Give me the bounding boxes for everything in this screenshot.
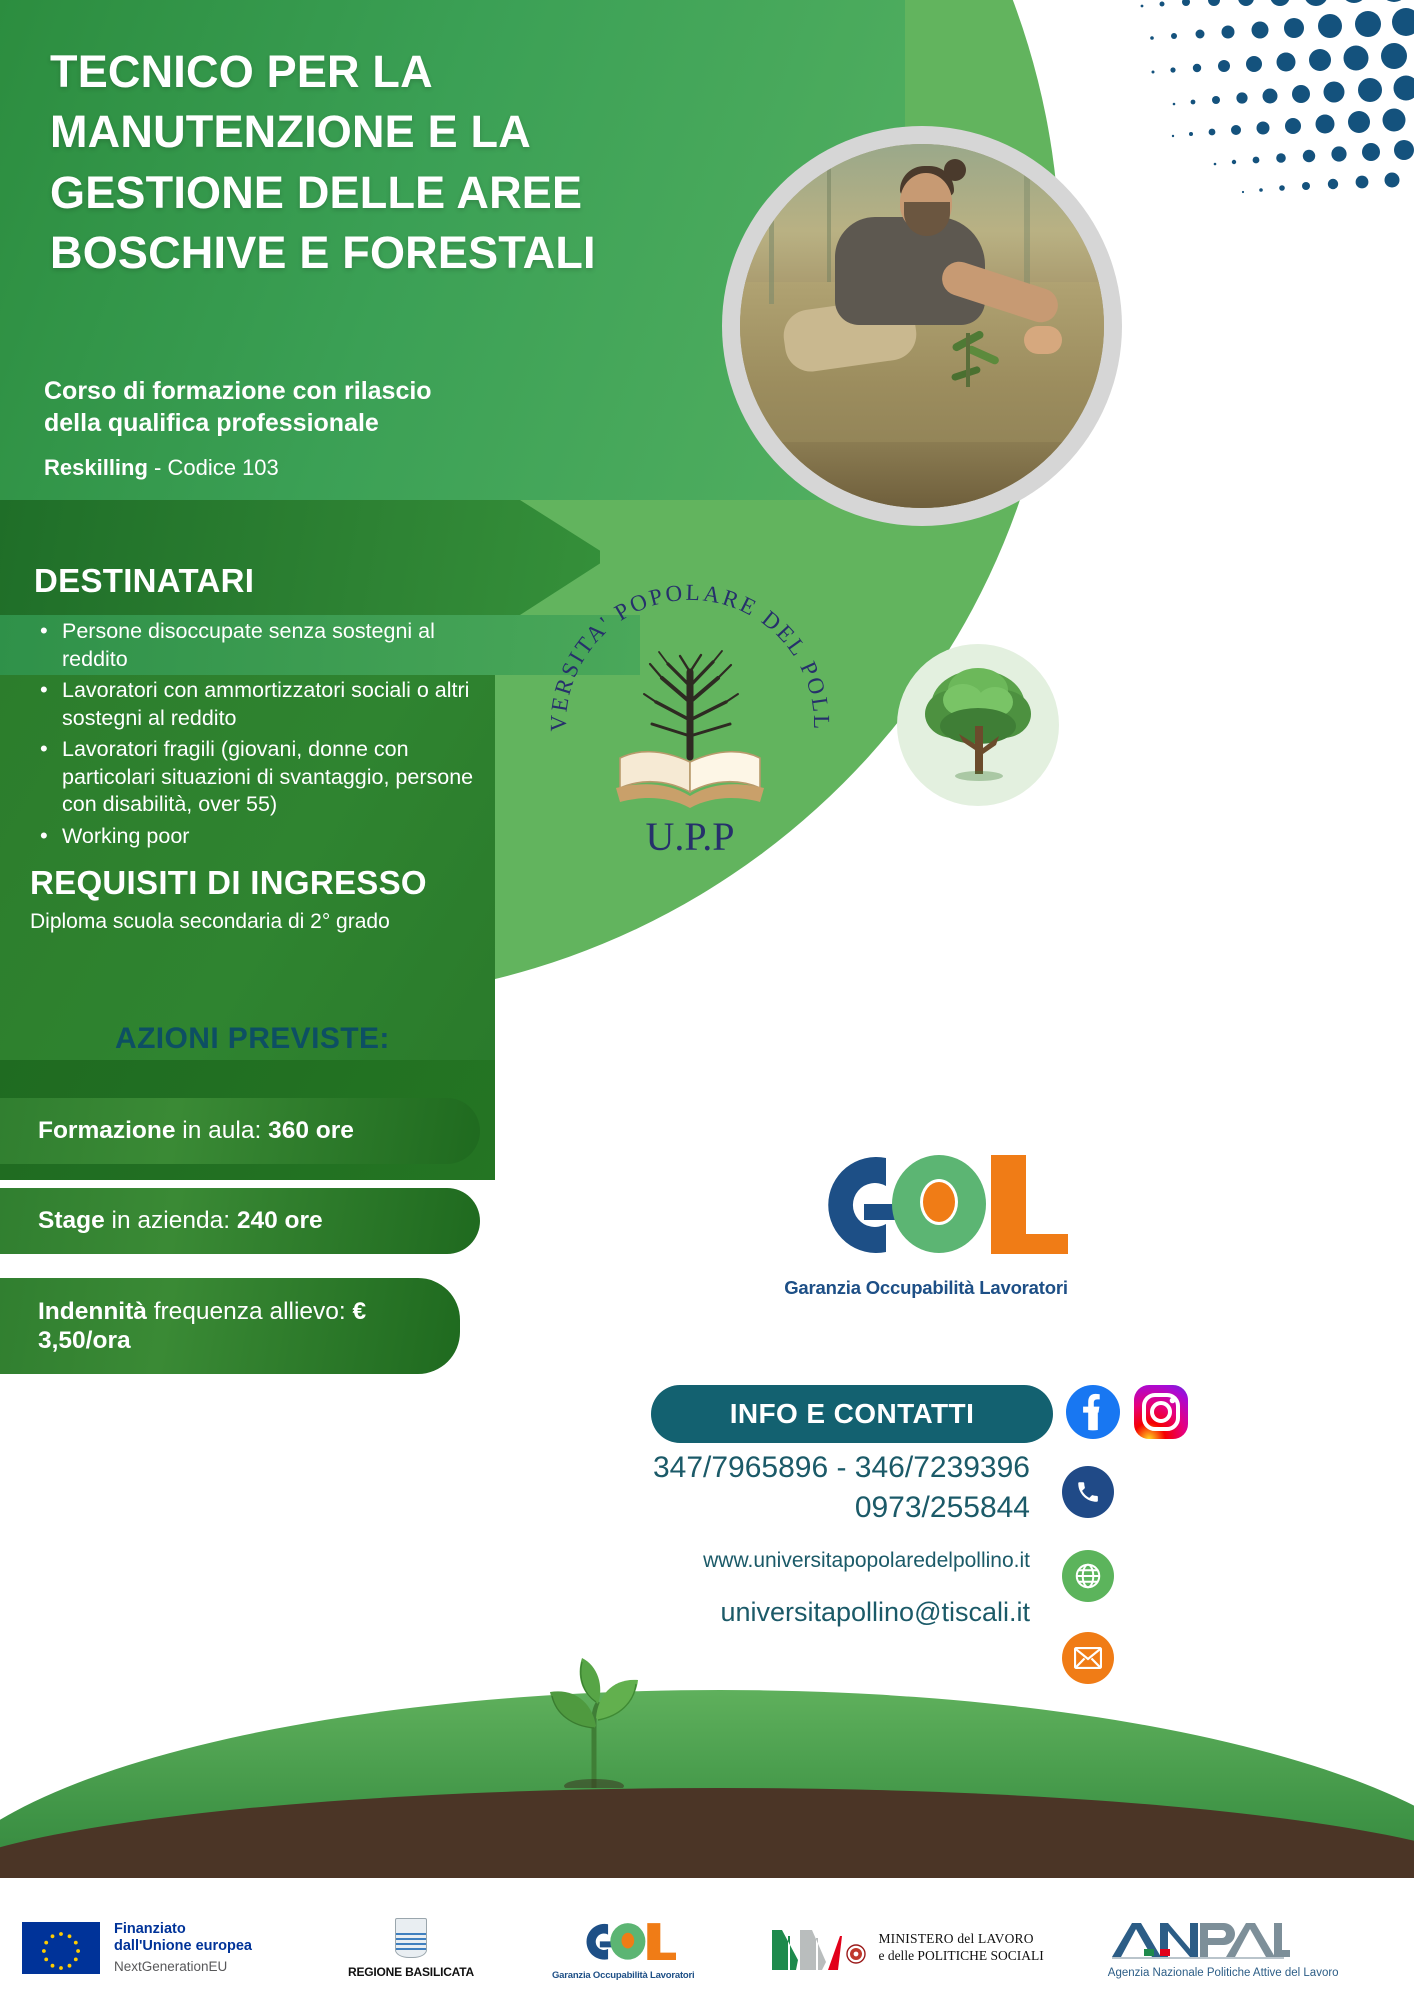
upp-logo: UNIVERSITA' POPOLARE DEL POLLINO U.P.P [540,552,840,862]
list-item: Persone disoccupate senza sostegni al re… [34,618,504,673]
poster-root: TECNICO PER LA MANUTENZIONE E LA GESTION… [0,0,1414,2000]
title-line-4: BOSCHIVE E FORESTALI [50,223,750,283]
info-contatti-bar: INFO E CONTATTI [651,1385,1053,1443]
azione-2-bold-1: Stage [38,1207,105,1234]
tree-illustration-circle [897,644,1059,806]
tree-icon [897,644,1059,806]
azione-2-mid: in azienda: [105,1207,237,1234]
anpal-caption: Agenzia Nazionale Politiche Attive del L… [1108,1967,1339,1979]
gol-mark-icon-small [567,1916,679,1966]
phone-line-2[interactable]: 0973/255844 [560,1488,1030,1528]
destinatari-heading: DESTINATARI [34,562,504,600]
requisiti-heading: REQUISITI DI INGRESSO [30,864,510,902]
phone-numbers: 347/7965896 - 346/7239396 0973/255844 [560,1448,1030,1527]
footer-gol-caption: Garanzia Occupabilità Lavoratori [552,1970,694,1981]
azione-3-mid: frequenza allievo: [147,1298,353,1325]
footer-logo-bar: Finanziato dall'Unione europea NextGener… [0,1896,1414,2000]
regione-basilicata-logo: REGIONE BASILICATA [348,1918,474,1979]
ministero-m-icon [766,1920,870,1976]
ribbon-reskilling-label: Reskilling [44,455,148,480]
course-ribbon-text: Corso di formazione con rilascio della q… [44,375,564,481]
info-contatti-label: INFO E CONTATTI [730,1398,975,1430]
ministero-lavoro-logo: MINISTERO del LAVORO e delle POLITICHE S… [766,1920,1043,1976]
title-line-3: GESTIONE DELLE AREE [50,163,750,223]
azioni-previste-heading: AZIONI PREVISTE: [115,1022,390,1056]
website-url[interactable]: www.universitapopolaredelpollino.it [560,1549,1030,1573]
anpal-mark-icon [1108,1917,1290,1965]
basilicata-shield-icon [395,1918,427,1958]
upp-acronym: U.P.P [646,814,735,859]
requisiti-section: REQUISITI DI INGRESSO Diploma scuola sec… [30,864,510,934]
list-item: Lavoratori fragili (giovani, donne con p… [34,736,504,819]
page-title: TECNICO PER LA MANUTENZIONE E LA GESTION… [50,42,750,283]
sprout-illustration [520,1628,670,1788]
title-line-2: MANUTENZIONE E LA [50,102,750,162]
eu-funding-logo: Finanziato dall'Unione europea NextGener… [22,1921,252,1975]
eu-line-2: dall'Unione europea [114,1938,252,1955]
phone-icon[interactable] [1062,1466,1114,1518]
eu-flag-icon [22,1922,100,1974]
anpal-logo: Agenzia Nazionale Politiche Attive del L… [1108,1917,1339,1979]
footer-gol-logo: Garanzia Occupabilità Lavoratori [552,1916,694,1981]
azione-stage-pill: Stage in azienda: 240 ore [0,1188,480,1254]
ribbon-line-2: della qualifica professionale [44,407,564,439]
email-icon[interactable] [1062,1632,1114,1684]
hero-photo-ring [722,126,1122,526]
azione-formazione-pill: Formazione in aula: 360 ore [0,1098,480,1164]
email-address[interactable]: universitapollino@tiscali.it [560,1597,1030,1628]
regione-caption: REGIONE BASILICATA [348,1965,474,1979]
azione-1-mid: in aula: [176,1117,269,1144]
azione-indennita-pill: Indennità frequenza allievo: € 3,50/ora [0,1278,460,1374]
azione-1-bold-1: Formazione [38,1117,176,1144]
title-line-1: TECNICO PER LA [50,42,750,102]
azione-1-bold-2: 360 ore [268,1117,354,1144]
gol-subtitle: Garanzia Occupabilità Lavoratori [776,1277,1076,1299]
eu-line-1: Finanziato [114,1921,252,1938]
eu-line-3: NextGenerationEU [114,1959,252,1975]
azione-3-bold-1: Indennità [38,1298,147,1325]
destinatari-section: DESTINATARI Persone disoccupate senza so… [34,562,504,854]
phone-line-1[interactable]: 347/7965896 - 346/7239396 [560,1448,1030,1488]
requisiti-text: Diploma scuola secondaria di 2° grado [30,910,510,934]
globe-icon[interactable] [1062,1550,1114,1602]
hero-photo-forestry-worker [740,144,1104,508]
destinatari-list: Persone disoccupate senza sostegni al re… [34,618,504,850]
gol-logo: Garanzia Occupabilità Lavoratori [776,1138,1076,1299]
instagram-icon[interactable] [1133,1384,1189,1440]
gol-mark-icon [776,1138,1076,1268]
ribbon-code-label: - Codice 103 [148,455,279,480]
ministero-line-2: e delle POLITICHE SOCIALI [878,1948,1043,1965]
azione-2-bold-2: 240 ore [237,1207,323,1234]
ribbon-subtitle: Reskilling - Codice 103 [44,455,564,481]
ministero-line-1: MINISTERO del LAVORO [878,1931,1043,1948]
list-item: Lavoratori con ammortizzatori sociali o … [34,677,504,732]
facebook-icon[interactable] [1065,1384,1121,1440]
halftone-dots-decoration [1054,0,1414,214]
contacts-block: 347/7965896 - 346/7239396 0973/255844 ww… [560,1448,1030,1628]
list-item: Working poor [34,823,504,851]
ribbon-line-1: Corso di formazione con rilascio [44,375,564,407]
